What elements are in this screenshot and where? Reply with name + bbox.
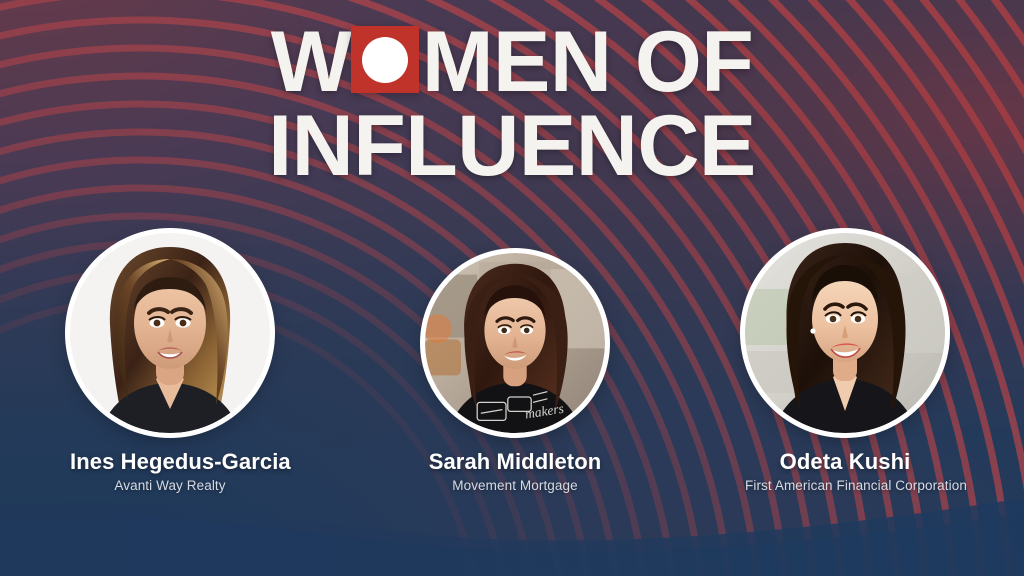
honoree-organization: First American Financial Corporation (745, 478, 945, 493)
honoree-name: Sarah Middleton (425, 449, 605, 475)
honoree-organization: Movement Mortgage (425, 478, 605, 493)
honoree-card: Ines Hegedus-Garcia Avanti Way Realty (70, 233, 270, 493)
avatar (745, 233, 945, 433)
avatar (70, 233, 270, 433)
honoree-name: Odeta Kushi (745, 449, 945, 475)
avatar: makers (425, 253, 605, 433)
women-of-influence-graphic: W MEN OF INFLUENCE (0, 0, 1024, 576)
honoree-list: Ines Hegedus-Garcia Avanti Way Realty (0, 0, 1024, 576)
honoree-name: Ines Hegedus-Garcia (70, 449, 270, 475)
honoree-card: makers Sarah Middleton Movement Mortgage (425, 253, 605, 493)
honoree-card: Odeta Kushi First American Financial Cor… (745, 233, 945, 493)
honoree-organization: Avanti Way Realty (70, 478, 270, 493)
